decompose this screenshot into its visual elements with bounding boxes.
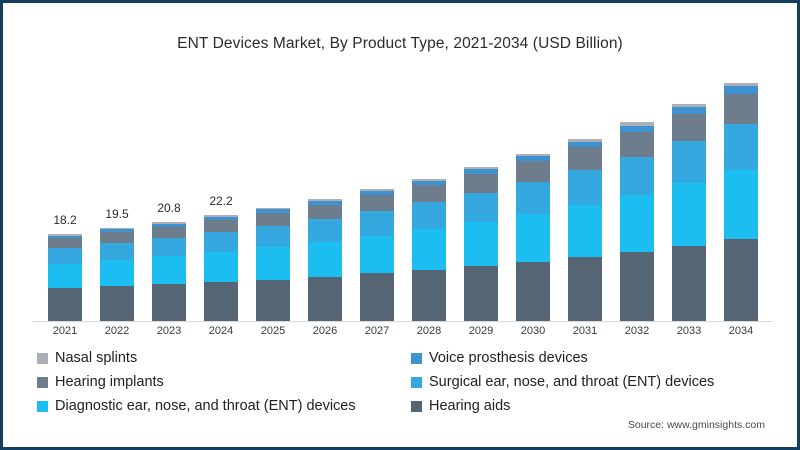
bar-segment[interactable] [256,247,290,279]
stacked-bar[interactable] [620,122,654,321]
bar-segment[interactable] [256,213,290,226]
bar-segment[interactable] [308,277,342,321]
stacked-bar[interactable] [672,104,706,321]
bar-segment[interactable] [100,243,134,260]
bar-segment[interactable] [48,238,82,248]
bar-segment[interactable] [516,182,550,214]
legend-label: Diagnostic ear, nose, and throat (ENT) d… [55,398,356,414]
legend-label: Hearing aids [429,398,510,414]
bar-value-label: 19.5 [105,207,128,221]
x-tick-2030: 2030 [507,325,559,337]
bar-segment[interactable] [516,161,550,182]
bar-value-label: 20.8 [157,201,180,215]
x-tick-2022: 2022 [91,325,143,337]
x-tick-2023: 2023 [143,325,195,337]
bar-segment[interactable] [256,280,290,321]
bar-segment[interactable] [672,107,706,114]
bar-segment[interactable] [672,183,706,246]
stacked-bar[interactable] [204,215,238,321]
stacked-bar[interactable] [308,199,342,321]
legend-item[interactable]: Surgical ear, nose, and throat (ENT) dev… [411,374,767,390]
chart-frame: ENT Devices Market, By Product Type, 202… [0,0,800,450]
stacked-bar[interactable] [516,154,550,321]
bar-slot-2024: 22.2 [195,73,247,321]
bar-slot-2031 [559,73,611,321]
bar-segment[interactable] [412,202,446,229]
bar-segment[interactable] [308,205,342,219]
bar-slot-2028 [403,73,455,321]
x-axis-tick-labels: 2021202220232024202520262027202820292030… [39,325,767,337]
stacked-bar[interactable] [152,222,186,321]
bar-segment[interactable] [724,86,758,94]
bar-slot-2027 [351,73,403,321]
bar-segment[interactable] [412,185,446,202]
bar-segment[interactable] [620,252,654,321]
legend-item[interactable]: Diagnostic ear, nose, and throat (ENT) d… [37,398,411,414]
x-tick-2026: 2026 [299,325,351,337]
bar-segment[interactable] [204,220,238,232]
x-tick-2033: 2033 [663,325,715,337]
bar-segment[interactable] [568,147,602,169]
bar-segment[interactable] [48,248,82,264]
bar-segment[interactable] [152,284,186,321]
bar-segment[interactable] [152,227,186,238]
legend-swatch-icon [411,377,422,388]
stacked-bar[interactable] [724,83,758,321]
chart-title: ENT Devices Market, By Product Type, 202… [3,35,797,53]
x-tick-2028: 2028 [403,325,455,337]
stacked-bar[interactable] [568,139,602,321]
bar-segment[interactable] [516,262,550,321]
bar-segment[interactable] [568,257,602,321]
legend-swatch-icon [37,377,48,388]
legend-swatch-icon [37,353,48,364]
bar-segment[interactable] [464,174,498,193]
x-tick-2032: 2032 [611,325,663,337]
bar-slot-2032 [611,73,663,321]
stacked-bar[interactable] [256,208,290,322]
bar-segment[interactable] [568,205,602,257]
x-tick-2021: 2021 [39,325,91,337]
bar-segment[interactable] [464,222,498,266]
bar-segment[interactable] [412,270,446,321]
bar-segment[interactable] [204,282,238,321]
bar-segment[interactable] [620,195,654,252]
bar-slot-2021: 18.2 [39,73,91,321]
bar-segment[interactable] [568,170,602,205]
stacked-bar[interactable] [360,189,394,321]
bar-segment[interactable] [464,193,498,222]
bar-segment[interactable] [152,256,186,284]
bar-segment[interactable] [100,286,134,321]
bar-slot-2025 [247,73,299,321]
legend-swatch-icon [411,401,422,412]
bar-segment[interactable] [516,214,550,262]
legend-swatch-icon [411,353,422,364]
bar-slot-2029 [455,73,507,321]
bar-value-label: 22.2 [209,194,232,208]
bar-segment[interactable] [308,242,342,277]
bar-segment[interactable] [620,157,654,195]
bar-value-label: 18.2 [53,213,76,227]
x-tick-2024: 2024 [195,325,247,337]
plot-area: 18.219.520.822.2 [39,73,767,321]
x-axis-line [33,321,773,322]
legend-item[interactable]: Voice prosthesis devices [411,350,767,366]
bar-segment[interactable] [724,239,758,321]
bar-group: 18.219.520.822.2 [39,73,767,321]
x-tick-2029: 2029 [455,325,507,337]
bar-slot-2022: 19.5 [91,73,143,321]
stacked-bar[interactable] [48,234,82,321]
legend-label: Nasal splints [55,350,137,366]
bar-segment[interactable] [464,266,498,321]
bar-segment[interactable] [100,260,134,286]
bar-segment[interactable] [48,264,82,288]
bar-segment[interactable] [360,211,394,236]
bar-segment[interactable] [672,141,706,183]
bar-segment[interactable] [724,124,758,170]
bar-segment[interactable] [412,229,446,270]
legend-swatch-icon [37,401,48,412]
bar-segment[interactable] [308,219,342,242]
bar-slot-2033 [663,73,715,321]
bar-segment[interactable] [152,238,186,256]
bar-segment[interactable] [724,94,758,124]
bar-segment[interactable] [360,236,394,274]
legend-label: Voice prosthesis devices [429,350,588,366]
bar-slot-2034 [715,73,767,321]
stacked-bar[interactable] [412,179,446,321]
bar-segment[interactable] [360,273,394,321]
bar-segment[interactable] [620,132,654,157]
bar-segment[interactable] [100,232,134,242]
bar-segment[interactable] [256,226,290,247]
bar-segment[interactable] [48,288,82,321]
bar-segment[interactable] [672,114,706,141]
legend-item[interactable]: Hearing aids [411,398,767,414]
bar-segment[interactable] [672,246,706,321]
bar-segment[interactable] [204,252,238,282]
x-tick-2031: 2031 [559,325,611,337]
x-tick-2034: 2034 [715,325,767,337]
bar-slot-2023: 20.8 [143,73,195,321]
stacked-bar[interactable] [464,167,498,321]
bar-segment[interactable] [360,195,394,211]
x-tick-2025: 2025 [247,325,299,337]
x-tick-2027: 2027 [351,325,403,337]
bar-segment[interactable] [204,232,238,252]
bar-slot-2030 [507,73,559,321]
legend-item[interactable]: Nasal splints [37,350,411,366]
legend-item[interactable]: Hearing implants [37,374,411,390]
bar-slot-2026 [299,73,351,321]
legend-label: Hearing implants [55,374,164,390]
bar-segment[interactable] [724,170,758,239]
legend-label: Surgical ear, nose, and throat (ENT) dev… [429,374,714,390]
source-attribution: Source: www.gminsights.com [628,419,765,431]
stacked-bar[interactable] [100,228,134,321]
chart-legend: Nasal splintsVoice prosthesis devicesHea… [37,346,767,418]
